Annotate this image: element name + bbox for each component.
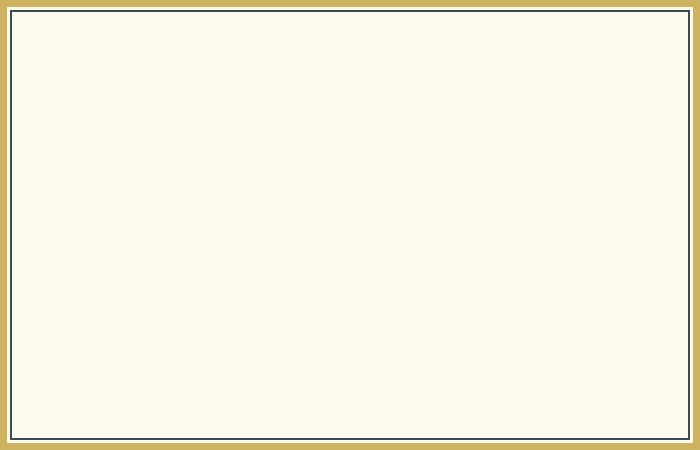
people-silhouette-right [488,304,638,414]
label-no-swing-line2: hướng gió [64,148,213,180]
floor-front-edge [12,411,688,438]
right-wall [668,12,688,438]
ac-louver-right-icon [410,46,428,62]
mode-badge-cool[interactable]: Mát [312,127,414,172]
label-swing: Điều chuyển hướng gió [502,82,599,146]
label-swing-line1: Điều chuyển [502,82,599,114]
label-no-swing-line1: Không điều chuyển [64,116,213,148]
airflow-illustration: Không điều chuyển hướng gió Điều chuyển … [0,0,700,450]
mode-badge-dry[interactable]: Khô [332,188,396,218]
panel-brand-text [536,162,556,165]
ceiling-air-conditioner[interactable] [290,12,438,70]
ac-air-outlet-grille [318,50,408,60]
label-swing-line2: hướng gió [502,114,599,146]
pointing-hand [545,198,607,286]
person-silhouette-left [208,308,304,412]
room-scene: Không điều chuyển hướng gió Điều chuyển … [12,12,688,438]
label-no-swing: Không điều chuyển hướng gió [64,116,213,180]
